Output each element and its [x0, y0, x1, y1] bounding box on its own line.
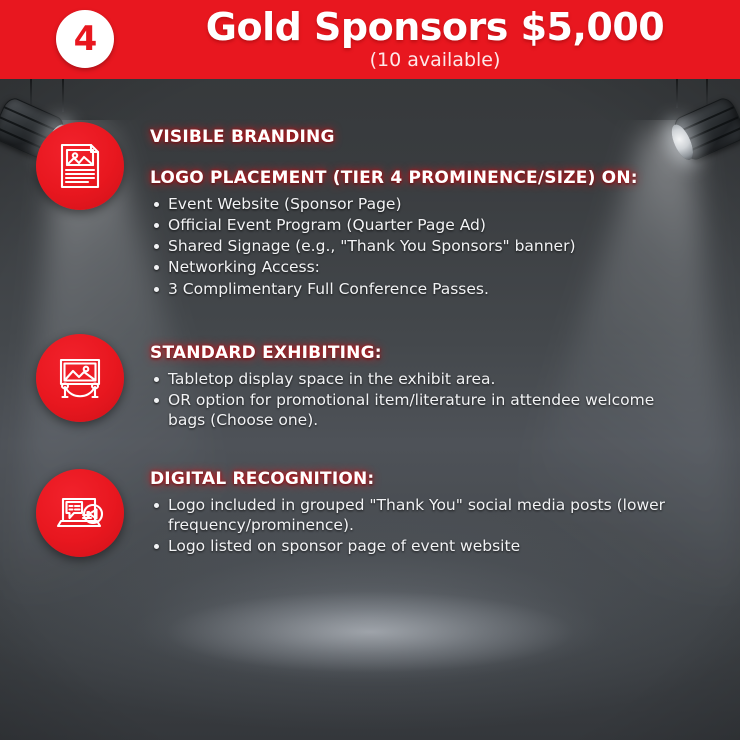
section-3-text: DIGITAL RECOGNITION: Logo included in gr… — [150, 469, 710, 557]
section-2-heading: STANDARD EXHIBITING: — [150, 343, 710, 363]
section-1-subheading: LOGO PLACEMENT (TIER 4 PROMINENCE/SIZE) … — [150, 168, 710, 188]
exhibit-gallery-glyph — [55, 353, 105, 403]
list-item: Networking Access: — [150, 257, 710, 277]
laptop-megaphone-glyph — [55, 488, 105, 538]
laptop-megaphone-icon — [36, 469, 124, 557]
header-bar: 4 Gold Sponsors $5,000 (10 available) — [0, 0, 740, 79]
section-1-bullet-list: Event Website (Sponsor Page) Official Ev… — [150, 194, 710, 299]
section-1-text: VISIBLE BRANDING LOGO PLACEMENT (TIER 4 … — [150, 127, 710, 300]
tier-number: 4 — [74, 22, 97, 56]
list-item: Official Event Program (Quarter Page Ad) — [150, 215, 710, 235]
list-item: Logo included in grouped "Thank You" soc… — [150, 495, 680, 535]
tier-number-badge: 4 — [56, 10, 114, 68]
list-item: 3 Complimentary Full Conference Passes. — [150, 279, 710, 299]
document-image-icon — [36, 122, 124, 210]
section-2-text: STANDARD EXHIBITING: Tabletop display sp… — [150, 343, 710, 431]
list-item: Tabletop display space in the exhibit ar… — [150, 369, 710, 389]
section-3-heading: DIGITAL RECOGNITION: — [150, 469, 710, 489]
header-title-block: Gold Sponsors $5,000 (10 available) — [150, 8, 720, 71]
availability-subtitle: (10 available) — [150, 49, 720, 71]
document-image-glyph — [55, 141, 105, 191]
section-1-heading: VISIBLE BRANDING — [150, 127, 710, 147]
exhibit-gallery-icon — [36, 334, 124, 422]
page-title: Gold Sponsors $5,000 — [150, 8, 720, 48]
list-item: Shared Signage (e.g., "Thank You Sponsor… — [150, 236, 710, 256]
list-item: Event Website (Sponsor Page) — [150, 194, 710, 214]
list-item: Logo listed on sponsor page of event web… — [150, 536, 710, 556]
content-area: VISIBLE BRANDING LOGO PLACEMENT (TIER 4 … — [0, 79, 740, 740]
section-3-bullet-list: Logo included in grouped "Thank You" soc… — [150, 495, 710, 556]
section-2-bullet-list: Tabletop display space in the exhibit ar… — [150, 369, 710, 430]
list-item: OR option for promotional item/literatur… — [150, 390, 670, 430]
